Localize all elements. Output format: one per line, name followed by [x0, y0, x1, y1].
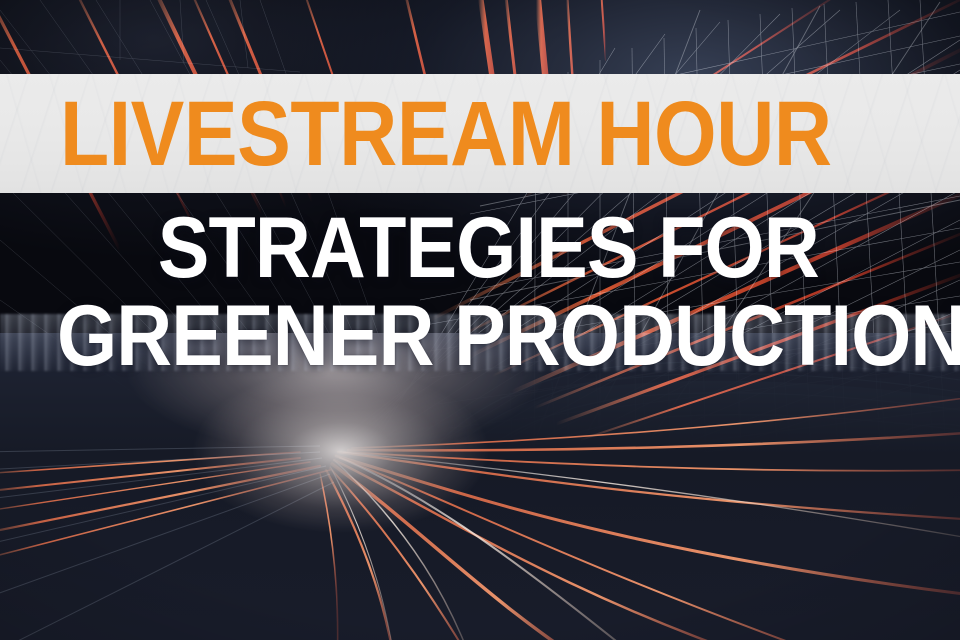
headline-line-1: STRATEGIES FOR — [157, 206, 818, 291]
headline-line-1-wrapper: STRATEGIES FOR — [0, 206, 960, 291]
headline: STRATEGIES FOR GREENER PRODUCTION — [0, 206, 960, 378]
headline-line-2-wrapper: GREENER PRODUCTION — [0, 294, 960, 379]
headline-line-2: GREENER PRODUCTION — [57, 294, 960, 379]
kicker-band: LIVESTREAM HOUR — [0, 74, 960, 193]
kicker-text: LIVESTREAM HOUR — [60, 88, 832, 180]
livestream-hour-banner: LIVESTREAM HOUR STRATEGIES FOR GREENER P… — [0, 0, 960, 640]
